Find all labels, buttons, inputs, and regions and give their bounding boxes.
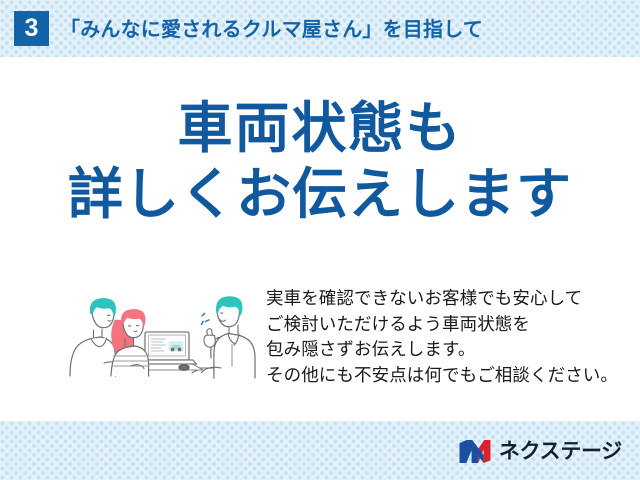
brand-logo: ネクステージ xyxy=(458,437,622,465)
body-line-1: 実車を確認できないお客様でも安心して xyxy=(266,286,616,312)
header-title: 「みんなに愛されるクルマ屋さん」を目指して xyxy=(60,13,483,42)
female-customer-figure xyxy=(111,309,149,376)
headline-line-1: 車両状態も xyxy=(0,96,640,160)
advertisement-page: 3 「みんなに愛されるクルマ屋さん」を目指して 車両状態も 詳しくお伝えします xyxy=(0,0,640,480)
body-copy: 実車を確認できないお客様でも安心して ご検討いただけるよう車両状態を 包み隠さず… xyxy=(266,286,616,388)
customer-consultation-illustration xyxy=(55,272,260,384)
brand-name: ネクステージ xyxy=(499,439,622,464)
staff-figure xyxy=(192,297,255,378)
headline-line-2: 詳しくお伝えします xyxy=(0,160,640,228)
body-line-4: その他にも不安点は何でもご相談ください。 xyxy=(266,363,616,389)
body-line-2: ご検討いただけるよう車両状態を xyxy=(266,312,616,338)
nextage-n-mark-icon xyxy=(458,439,492,464)
headline: 車両状態も 詳しくお伝えします xyxy=(0,96,640,228)
body-line-3: 包み隠さずお伝えします。 xyxy=(266,337,616,363)
step-number-badge: 3 xyxy=(14,11,49,46)
